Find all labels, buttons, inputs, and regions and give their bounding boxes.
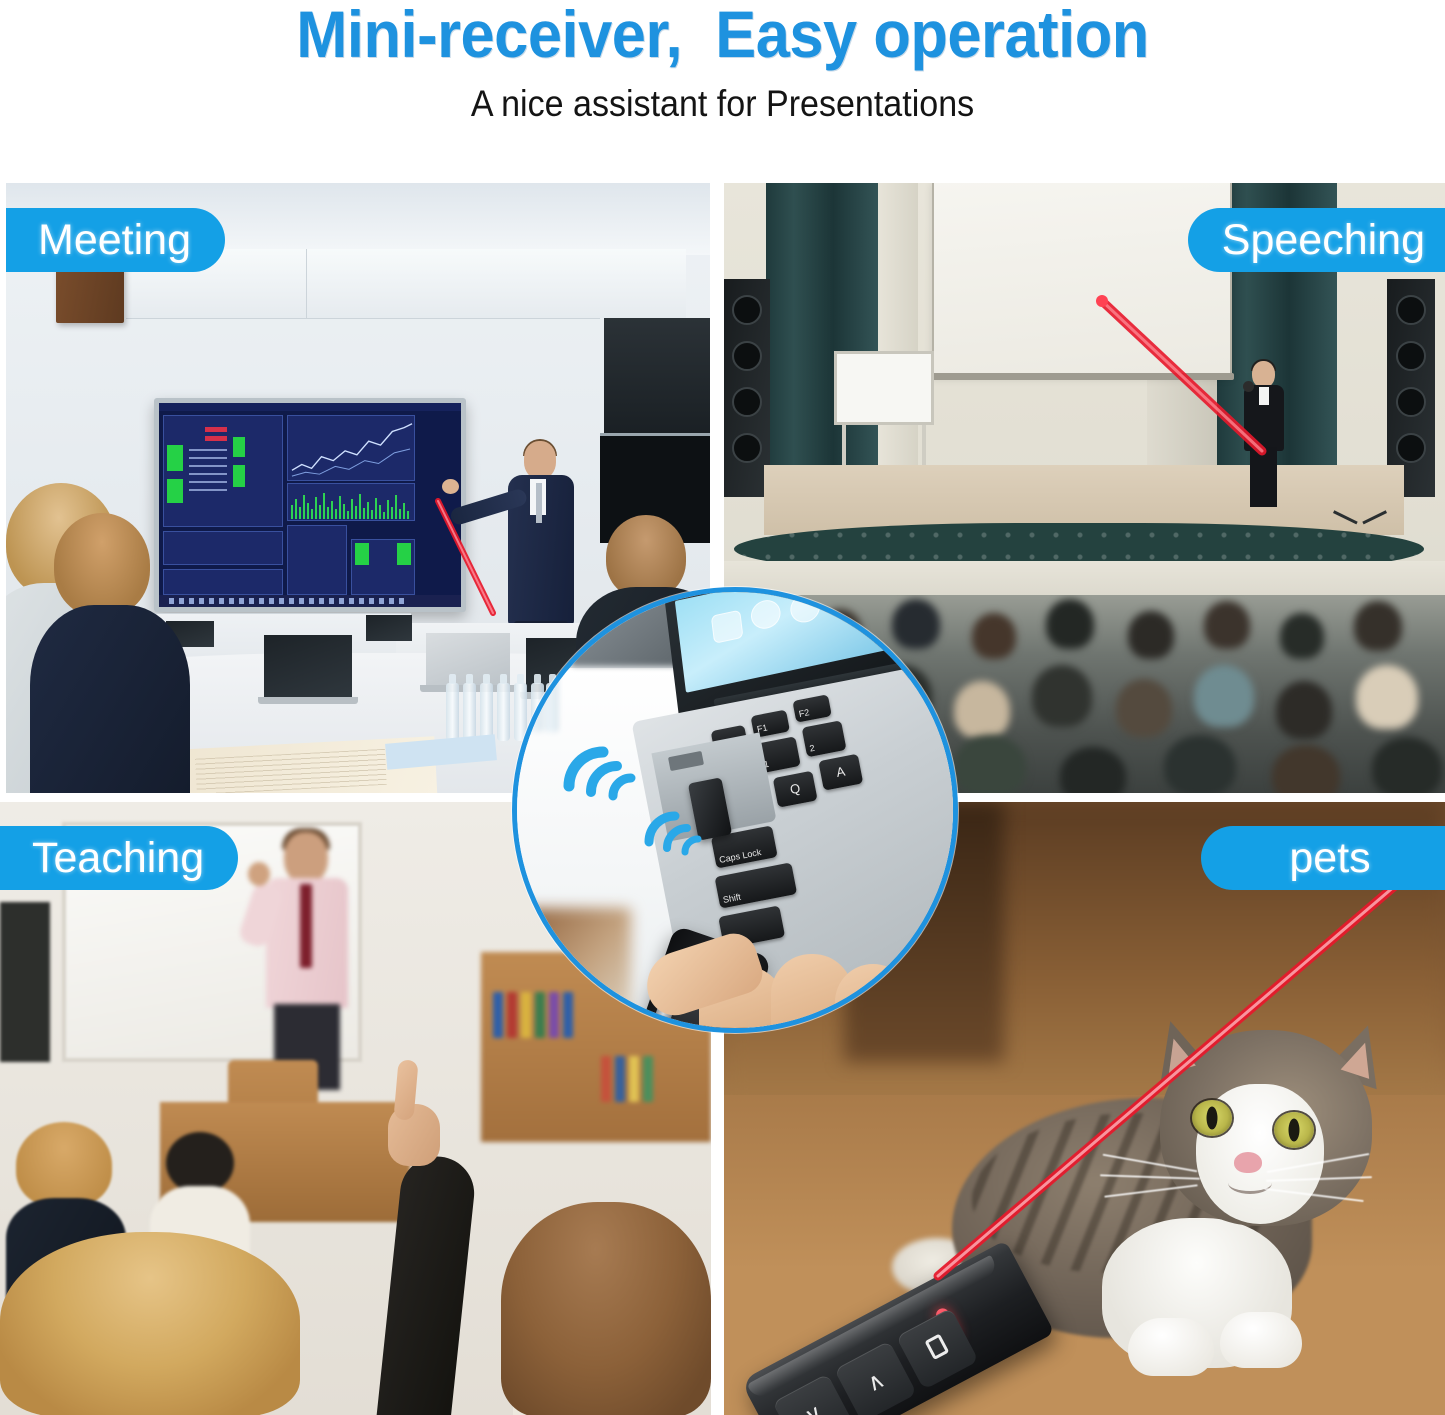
speaker-shirt [1259,387,1269,405]
stage-speaker [1240,361,1288,509]
wifi-signal-receive [639,788,717,858]
dashboard-titlebar [159,403,461,411]
student-brown-hair [501,1202,711,1415]
dashboard-row [189,449,227,451]
dashboard-row [189,457,227,459]
cat-front-paw-right [1220,1312,1302,1368]
page-subtitle: A nice assistant for Presentations [58,82,1387,126]
dashboard-green-bar [397,543,411,565]
dashboard-pane-chart [287,415,415,481]
projection-screen [932,183,1232,375]
attendee-second-left [36,513,176,793]
key-f2-label: F2 [798,707,810,719]
cat-nose [1234,1152,1262,1173]
student-sleeve [376,1153,478,1415]
panel-label-pets: pets [1201,826,1445,890]
blank-screen-glyph [904,1323,970,1374]
key-a-label: A [820,763,861,780]
laptop [366,615,412,641]
mic-tripod [1333,469,1387,513]
center-circle-inset: Esc F1 F2 ~ 1 2 Tab Q A [512,587,958,1033]
page-down-glyph: ∨ [781,1390,847,1415]
cat-head [1148,1012,1383,1237]
product-feature-image: Mini-receiver, Easy operation A nice ass… [0,0,1445,1415]
dashboard-row [189,481,227,483]
presenter-head [524,441,556,479]
whiteboard [834,351,934,425]
speaker-head [1252,361,1275,388]
teacher-tie [300,884,312,968]
dashboard-pane-orders [163,531,283,565]
finger-ring [835,964,911,1033]
key-q[interactable]: Q [773,771,818,808]
presentation-display [154,398,466,612]
teacher [250,832,360,1082]
laptop-base [258,697,358,704]
dashboard-pane-depth [287,525,347,595]
dashboard-red-cell [205,436,227,441]
cat-front-paw-left [1128,1318,1214,1376]
laptop [264,635,352,697]
key-2[interactable]: 2 [802,720,847,757]
speaker-legs [1250,447,1277,507]
header: Mini-receiver, Easy operation A nice ass… [0,0,1445,180]
blackboard [0,902,50,1062]
dashboard-red-cell [205,427,227,432]
key-a[interactable]: A [818,754,863,791]
student-raised-hand [360,1030,480,1415]
key-caps-lock-label: Caps Lock [718,847,762,865]
hand-holding-remote: ∧ ∨ [629,892,929,1033]
dashboard-green-bar [233,465,245,487]
dashboard-row [189,465,227,467]
presenter-hand [442,479,459,494]
page-up-glyph: ∧ [843,1357,909,1406]
student-blonde-hair [0,1232,300,1415]
student-hand [382,1060,444,1172]
cat-pupil [1289,1119,1300,1142]
teacher-hand [248,862,270,886]
panel-label-meeting: Meeting [6,208,225,272]
projection-screen-bar [930,373,1234,380]
safari-icon[interactable] [789,591,822,625]
student-head [166,1132,234,1194]
dashboard-row [189,489,227,491]
dashboard-green-bar [355,543,369,565]
laptop-screen [366,615,412,641]
attendee-body [30,605,190,793]
key-f2[interactable]: F2 [792,694,832,722]
launchpad-icon[interactable] [749,597,782,631]
cat-mouth [1228,1172,1272,1194]
dashboard-green-bar [167,479,183,503]
student-head [16,1122,112,1208]
page-title: Mini-receiver, Easy operation [51,0,1395,70]
finder-icon[interactable] [711,610,744,644]
dashboard-green-bar [233,437,245,457]
dashboard-line-chart [288,416,414,480]
microphone [1243,381,1254,392]
inset-background-shelf [512,908,631,1028]
dashboard-volume-bars [289,485,413,519]
dashboard-row [189,473,227,475]
key-2-label: 2 [809,743,816,754]
attendee-head [54,513,150,617]
dashboard-green-bar [167,445,183,471]
cat-pupil [1207,1107,1218,1130]
dashboard-taskbar [159,595,461,607]
laptop-screen [264,635,352,697]
dashboard-pane-blotter [163,569,283,595]
presenter-tie [536,483,542,523]
cat-eye-right [1274,1112,1314,1148]
teacher-head [284,832,328,884]
panel-label-teaching: Teaching [0,826,238,890]
panel-label-speeching: Speeching [1188,208,1445,272]
key-q-label: Q [775,780,816,797]
trading-dashboard-screen [159,403,461,607]
cat-eye-left [1192,1100,1232,1136]
